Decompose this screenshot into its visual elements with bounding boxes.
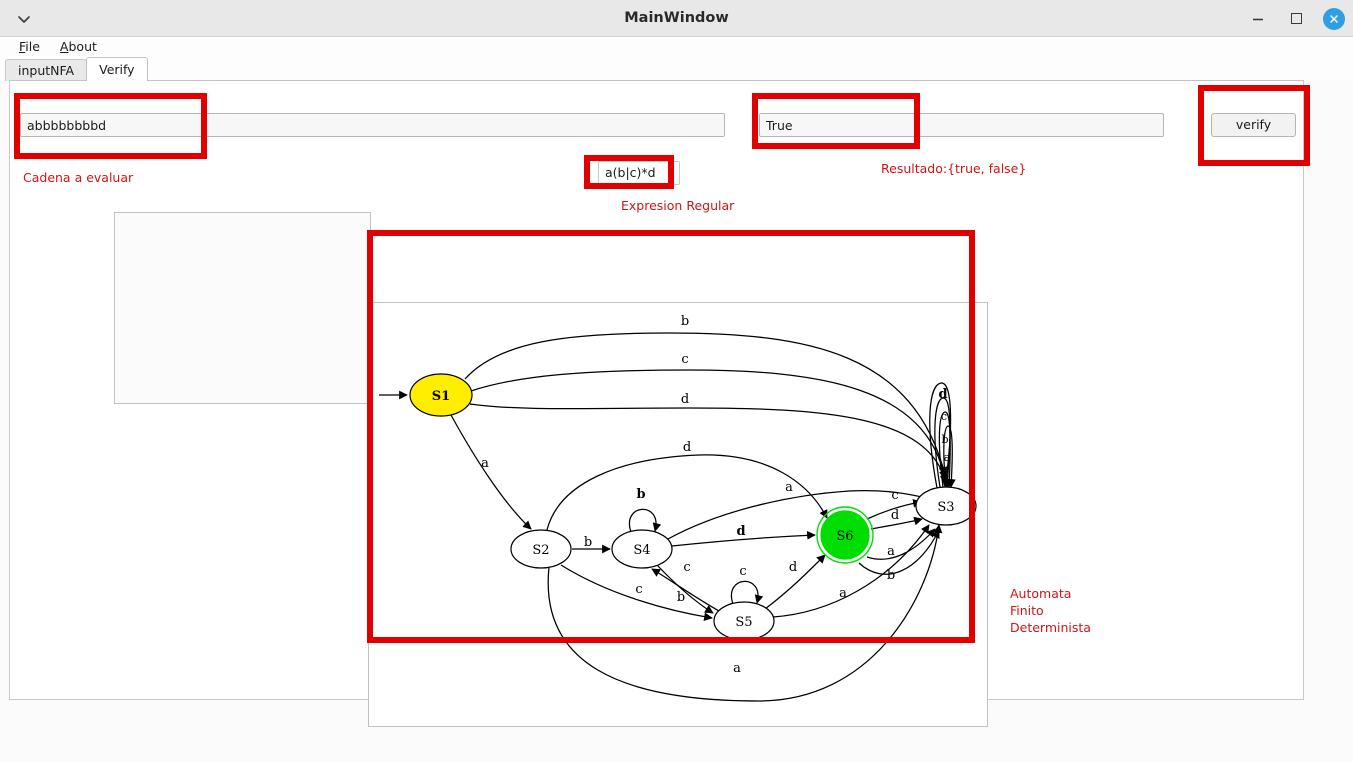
- edge-label-s4-d: d: [736, 524, 745, 539]
- annotation-resultado: Resultado:{true, false}: [881, 160, 1026, 177]
- annotation-automata: Automata Finito Determinista: [1010, 585, 1091, 636]
- tab-content-verify: verify a(b|c)*d Cadena a evaluar Resulta…: [9, 80, 1304, 700]
- menu-item-about-label: bout: [68, 39, 96, 54]
- edge-label-s5-a: a: [839, 586, 847, 601]
- tab-inputnfa[interactable]: inputNFA: [5, 59, 87, 81]
- edge-label-s6-b: b: [887, 568, 895, 583]
- automaton-diagram: S1 S2 S4 S5 S6: [369, 303, 988, 727]
- edge-label-s1-a: a: [481, 456, 489, 471]
- edge-label-s5-d: d: [789, 560, 797, 575]
- edge-label-s5-loop-c: c: [739, 564, 746, 579]
- main-window: MainWindow File About: [0, 0, 1353, 762]
- edge-label-s6-d: d: [891, 508, 899, 523]
- annotation-cadena: Cadena a evaluar: [23, 169, 133, 186]
- tab-verify[interactable]: Verify: [86, 57, 147, 81]
- state-S4[interactable]: S4: [612, 530, 672, 568]
- menu-item-file[interactable]: File: [9, 37, 50, 57]
- tab-bar: inputNFA Verify: [0, 57, 1353, 81]
- edge-label-s4-c: c: [683, 560, 690, 575]
- state-S2[interactable]: S2: [511, 530, 571, 568]
- edge-label-s3-b: b: [941, 433, 948, 446]
- menu-item-file-label: ile: [25, 39, 40, 54]
- state-label-S3: S3: [937, 500, 954, 515]
- state-S1[interactable]: S1: [410, 374, 472, 416]
- edge-label-s5-b: b: [677, 590, 685, 605]
- state-S3[interactable]: S3: [916, 487, 976, 525]
- menu-item-about[interactable]: About: [50, 37, 107, 57]
- edge-label-s2-c: c: [635, 582, 642, 597]
- left-empty-panel: [114, 212, 371, 404]
- state-label-S4: S4: [633, 543, 650, 558]
- edge-label-s1-c: c: [681, 352, 688, 367]
- edge-label-s4-a: a: [785, 480, 793, 495]
- regex-field[interactable]: a(b|c)*d: [598, 161, 680, 185]
- maximize-icon[interactable]: [1285, 8, 1307, 30]
- edge-label-s2-b: b: [584, 535, 592, 550]
- menu-bar: File About: [0, 37, 1353, 57]
- state-label-S5: S5: [735, 615, 752, 630]
- edge-label-s6-c: c: [891, 488, 898, 503]
- edge-label-s1-d: d: [681, 392, 689, 407]
- state-label-S6: S6: [836, 529, 853, 544]
- window-controls: [1247, 0, 1345, 37]
- edge-label-s4-loop-b: b: [636, 487, 645, 502]
- automaton-graph-panel: S1 S2 S4 S5 S6: [368, 302, 988, 727]
- state-label-S2: S2: [532, 543, 549, 558]
- state-label-S1: S1: [432, 389, 450, 404]
- edge-label-s3-a: a: [944, 451, 951, 464]
- annotation-expresion-regular: Expresion Regular: [621, 197, 734, 214]
- edge-label-s3-d: d: [938, 387, 947, 402]
- input-string-field[interactable]: [20, 113, 725, 137]
- edge-label-s2-d: d: [683, 440, 691, 455]
- title-bar: MainWindow: [0, 0, 1353, 37]
- window-title: MainWindow: [0, 0, 1353, 37]
- minimize-icon[interactable]: [1247, 8, 1269, 30]
- close-icon[interactable]: [1323, 8, 1345, 30]
- edge-label-s1-b: b: [681, 314, 689, 329]
- edge-label-s2-a: a: [733, 661, 741, 676]
- state-S6[interactable]: S6: [817, 507, 873, 563]
- edge-label-s3-c: c: [941, 410, 947, 423]
- edge-label-s6-a: a: [887, 544, 895, 559]
- result-field[interactable]: [759, 113, 1164, 137]
- verify-button[interactable]: verify: [1211, 113, 1296, 137]
- state-S5[interactable]: S5: [714, 602, 774, 640]
